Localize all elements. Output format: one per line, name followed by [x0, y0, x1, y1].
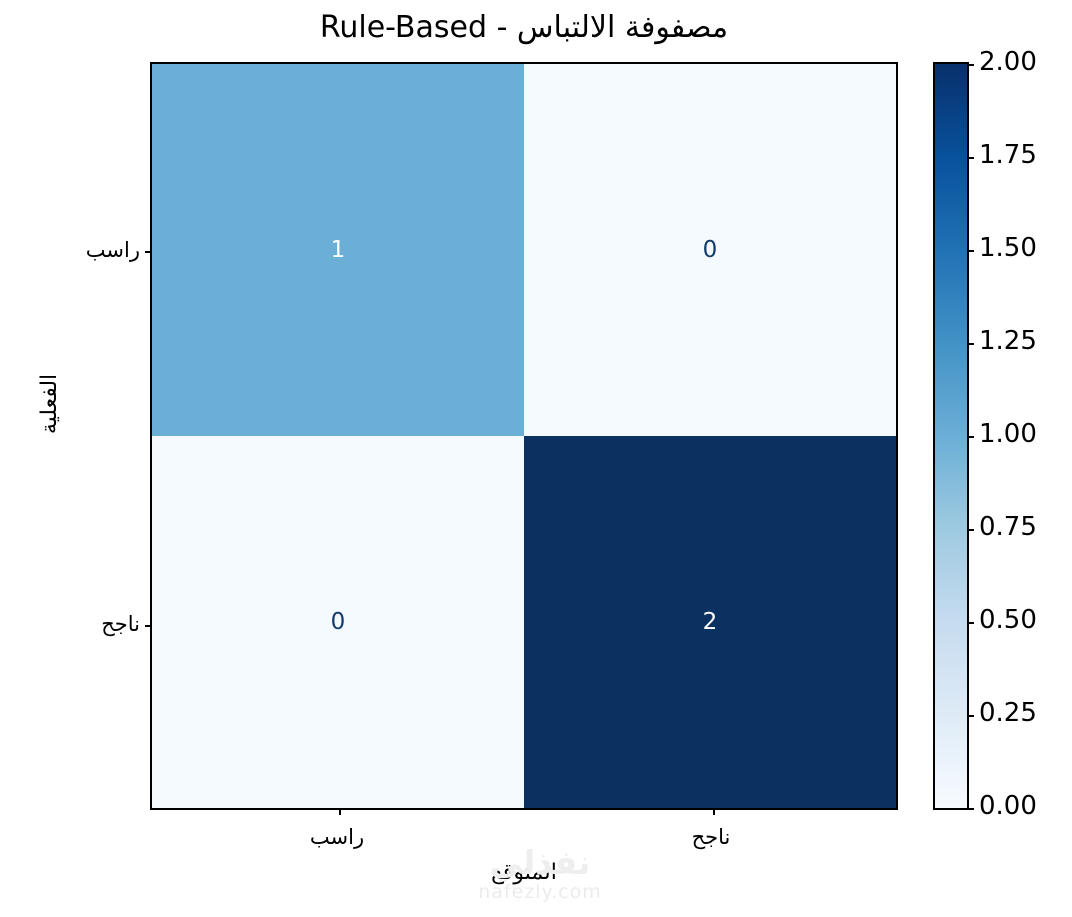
heatmap-grid: 1 0 0 2: [152, 64, 896, 808]
heatmap-cell-value: 0: [331, 611, 346, 634]
y-tick-mark-0: [145, 251, 152, 253]
colorbar-tick-label-4: 1.00: [979, 419, 1037, 449]
x-tick-mark-1: [713, 808, 715, 815]
colorbar-tick-label-8: 2.00: [979, 47, 1037, 77]
colorbar: [933, 62, 969, 810]
colorbar-tick-mark-8: [967, 64, 974, 66]
heatmap-plot-area: 1 0 0 2: [150, 62, 898, 810]
heatmap-cell-1-1[interactable]: 2: [524, 436, 896, 808]
colorbar-tick-label-1: 0.25: [979, 698, 1037, 728]
heatmap-cell-0-1[interactable]: 0: [524, 64, 896, 436]
y-tick-mark-1: [145, 625, 152, 627]
y-tick-label-0: راسب: [60, 237, 140, 263]
y-tick-label-1: ناجح: [60, 611, 140, 637]
x-axis-title: المتوقع: [150, 858, 898, 888]
colorbar-tick-label-5: 1.25: [979, 326, 1037, 356]
y-axis-title: الفعلية: [36, 344, 64, 464]
colorbar-tick-mark-4: [967, 436, 974, 438]
colorbar-tick-mark-3: [967, 529, 974, 531]
colorbar-tick-mark-0: [967, 808, 974, 810]
heatmap-cell-value: 1: [331, 239, 346, 262]
colorbar-tick-label-2: 0.50: [979, 605, 1037, 635]
colorbar-tick-mark-1: [967, 715, 974, 717]
colorbar-tick-label-0: 0.00: [979, 791, 1037, 821]
heatmap-cell-value: 0: [703, 239, 718, 262]
colorbar-tick-label-7: 1.75: [979, 140, 1037, 170]
heatmap-cell-0-0[interactable]: 1: [152, 64, 524, 436]
colorbar-tick-label-3: 0.75: [979, 512, 1037, 542]
x-tick-label-1: ناجح: [611, 824, 811, 850]
colorbar-tick-mark-7: [967, 157, 974, 159]
x-tick-label-0: راسب: [237, 824, 437, 850]
colorbar-tick-mark-5: [967, 343, 974, 345]
colorbar-tick-label-6: 1.50: [979, 233, 1037, 263]
colorbar-gradient: [935, 64, 967, 808]
x-tick-mark-0: [339, 808, 341, 815]
colorbar-tick-mark-2: [967, 622, 974, 624]
chart-title: مصفوفة الالتباس - Rule-Based: [150, 8, 898, 48]
heatmap-cell-value: 2: [703, 611, 718, 634]
colorbar-tick-mark-6: [967, 250, 974, 252]
figure-canvas: مصفوفة الالتباس - Rule-Based 1 0 0 2 راس…: [0, 0, 1072, 917]
heatmap-cell-1-0[interactable]: 0: [152, 436, 524, 808]
